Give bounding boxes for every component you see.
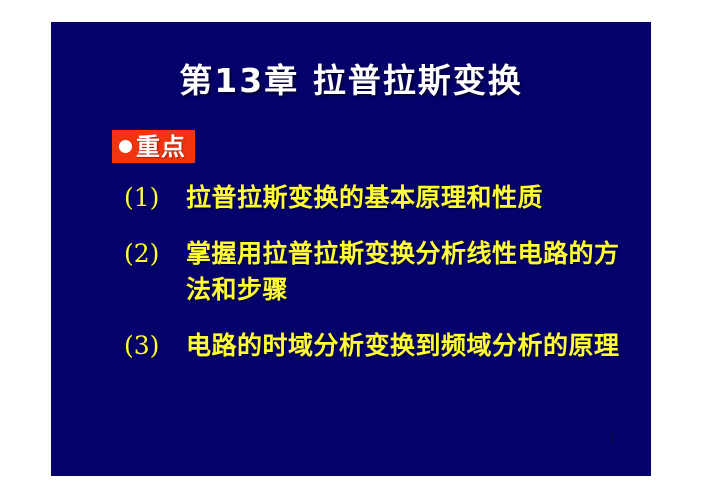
slide-page: 第13章 拉普拉斯变换 重点 (1) 拉普拉斯变换的基本原理和性质 (2) 掌握… bbox=[0, 0, 702, 496]
page-number: 1 bbox=[607, 430, 617, 448]
list-item: (3) 电路的时域分析变换到频域分析的原理 bbox=[124, 328, 644, 364]
list-item-marker: (2) bbox=[124, 236, 186, 272]
list-item-text: 拉普拉斯变换的基本原理和性质 bbox=[186, 180, 644, 216]
filled-circle-bullet-icon bbox=[119, 140, 132, 153]
list-item: (2) 掌握用拉普拉斯变换分析线性电路的方法和步骤 bbox=[124, 236, 644, 308]
list-item-marker: (3) bbox=[124, 328, 186, 364]
list-item-marker: (1) bbox=[124, 180, 186, 216]
slide-title: 第13章 拉普拉斯变换 bbox=[51, 60, 651, 102]
key-points-list: (1) 拉普拉斯变换的基本原理和性质 (2) 掌握用拉普拉斯变换分析线性电路的方… bbox=[124, 180, 644, 384]
list-item-text: 掌握用拉普拉斯变换分析线性电路的方法和步骤 bbox=[186, 236, 644, 308]
focus-badge: 重点 bbox=[112, 130, 195, 163]
list-item: (1) 拉普拉斯变换的基本原理和性质 bbox=[124, 180, 644, 216]
presentation-slide: 第13章 拉普拉斯变换 重点 (1) 拉普拉斯变换的基本原理和性质 (2) 掌握… bbox=[51, 22, 651, 476]
focus-badge-label: 重点 bbox=[136, 132, 186, 162]
list-item-text: 电路的时域分析变换到频域分析的原理 bbox=[186, 328, 644, 364]
